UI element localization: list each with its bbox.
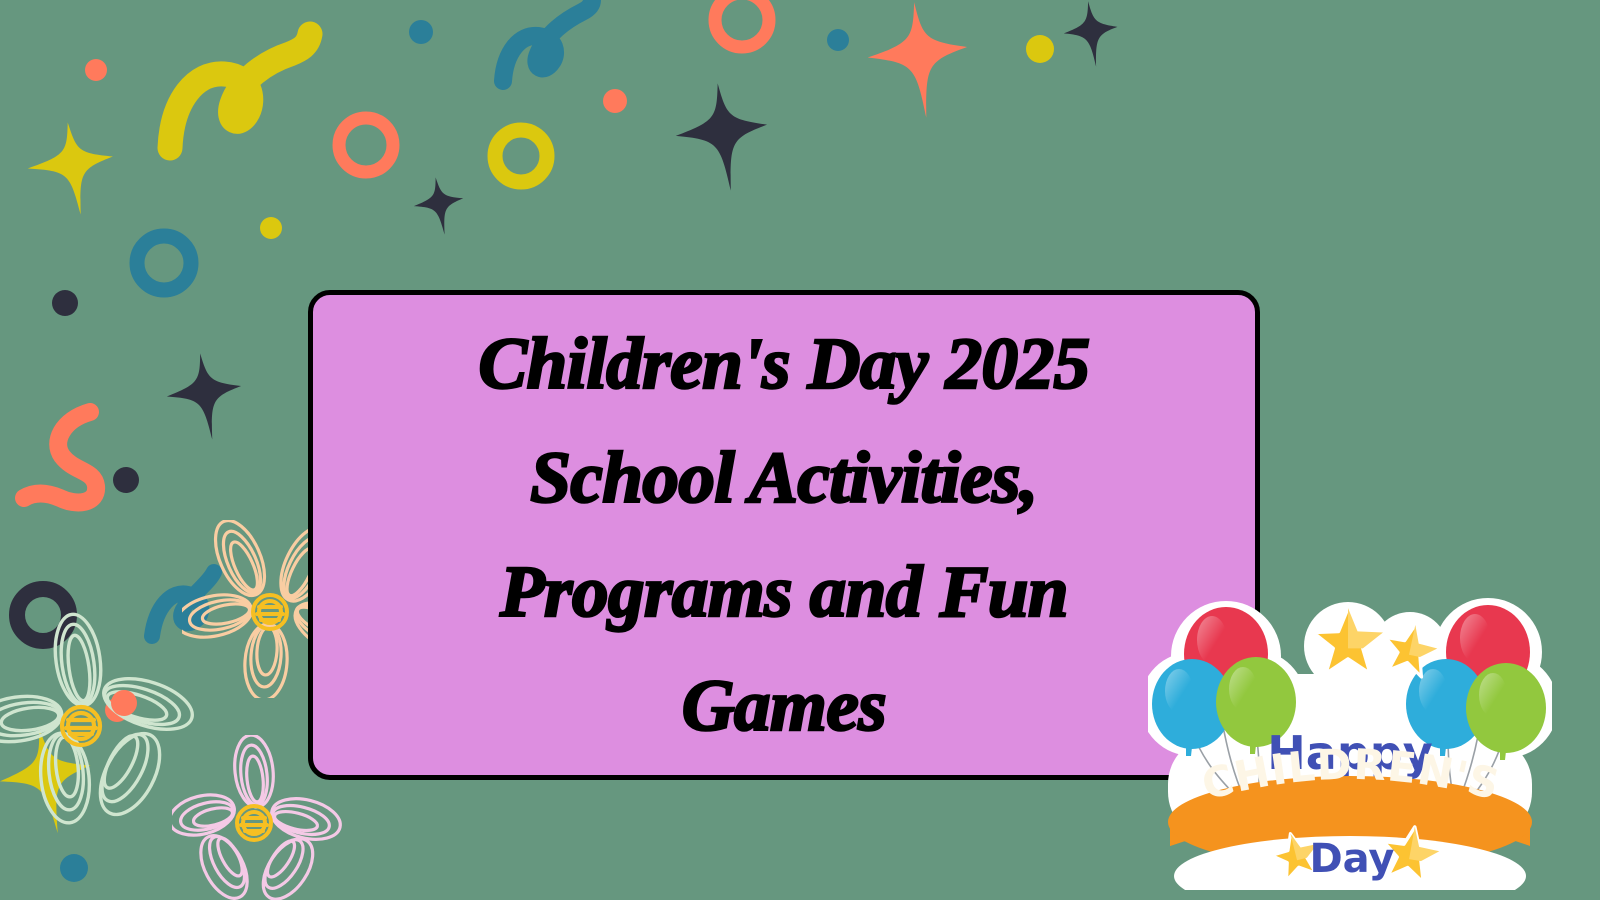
dot-navy-2-icon — [113, 467, 139, 493]
squiggle-coral-icon — [24, 412, 96, 502]
dot-coral-3-icon — [105, 698, 129, 722]
sparkle-yellow-icon — [22, 117, 120, 221]
dot-navy-1-icon — [52, 290, 78, 316]
flower-mint-accent-dot — [111, 690, 137, 716]
ring-teal-1-icon — [137, 236, 191, 290]
star-bottom-left-icon — [1267, 828, 1324, 883]
balloon-blue-right — [1406, 659, 1486, 756]
sparkle-navy-4-icon — [162, 348, 248, 445]
poster-canvas: Children's Day 2025 School Activities, P… — [0, 0, 1600, 900]
squiggle-teal-2-icon — [152, 572, 214, 636]
ring-coral-1-icon — [339, 118, 393, 172]
dot-teal-2-icon — [827, 29, 849, 51]
title-line-3: Programs and Fun — [500, 551, 1068, 632]
sticker-subtitle-text: Day — [1309, 836, 1394, 882]
page-title: Children's Day 2025 School Activities, P… — [464, 307, 1103, 763]
squiggle-teal-icon — [503, 0, 592, 81]
dot-yellow-2-icon — [1026, 35, 1054, 63]
sticker-greeting-text: Happy — [1267, 726, 1432, 780]
ring-yellow-1-icon — [495, 130, 547, 182]
sparkle-navy-3-icon — [1060, 0, 1122, 70]
title-line-2: School Activities, — [530, 437, 1037, 518]
dot-teal-1-icon — [409, 20, 433, 44]
ring-navy-1-icon — [17, 589, 69, 641]
dot-teal-3-icon — [60, 854, 88, 882]
sparkle-navy-2-icon — [410, 174, 468, 239]
star-bottom-right-icon — [1378, 822, 1443, 884]
dot-yellow-1-icon — [260, 217, 282, 239]
orange-banner — [1168, 776, 1532, 890]
sparkle-coral-icon — [862, 0, 974, 123]
squiggle-yellow-icon — [170, 34, 310, 148]
title-line-1: Children's Day 2025 — [478, 323, 1089, 404]
sparkle-navy-1-icon — [670, 78, 774, 196]
title-line-4: Games — [682, 665, 886, 746]
balloon-red-right — [1446, 605, 1530, 706]
star-top-right-icon — [1379, 619, 1441, 678]
balloon-green-right — [1466, 663, 1546, 760]
star-top-left-icon — [1313, 608, 1383, 674]
dot-coral-2-icon — [603, 89, 627, 113]
flower-mint-icon — [0, 612, 202, 827]
sparkle-yellow-2-icon — [0, 719, 101, 841]
title-card: Children's Day 2025 School Activities, P… — [308, 290, 1260, 780]
dot-coral-1-icon — [85, 59, 107, 81]
ring-coral-2-icon — [715, 0, 769, 47]
